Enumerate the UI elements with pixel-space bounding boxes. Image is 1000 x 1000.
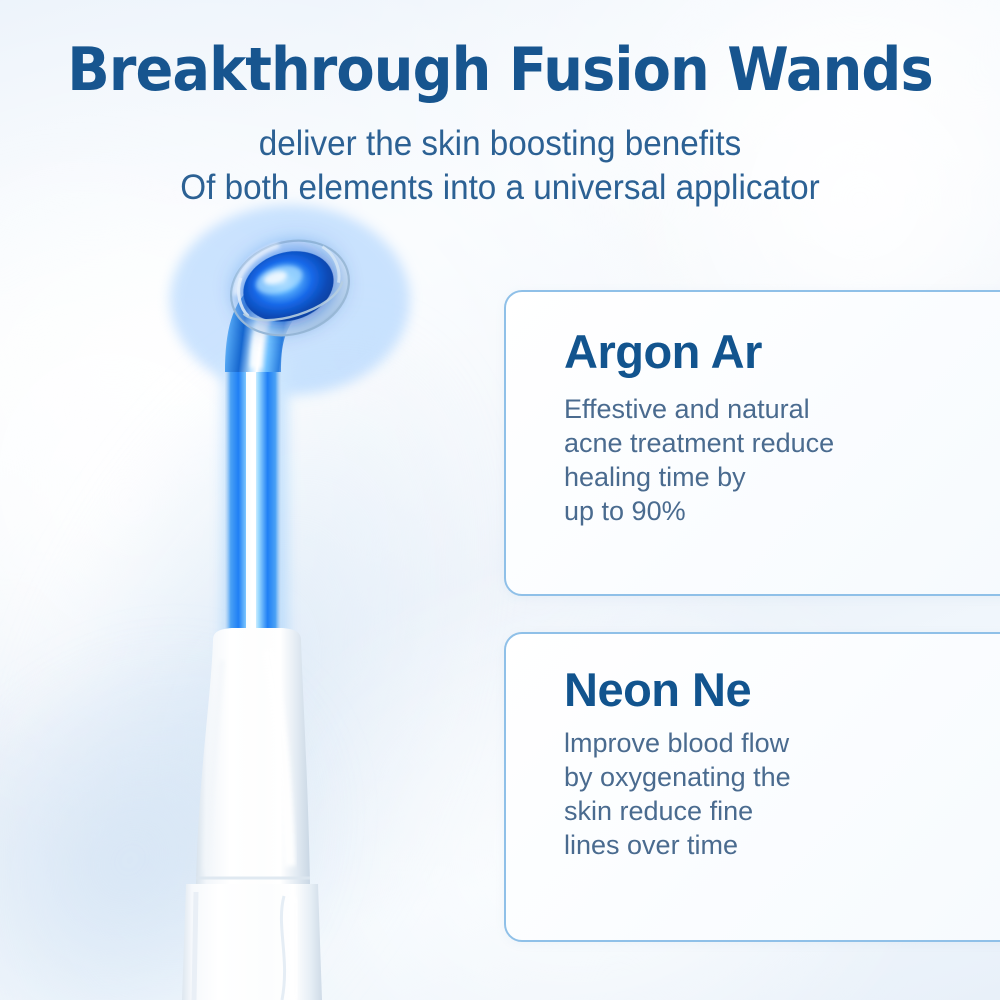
info-card-neon[interactable]: Neon Ne lmprove blood flow by oxygenatin… (504, 632, 1000, 942)
page-title: Breakthrough Fusion Wands (35, 0, 965, 100)
card-title-argon: Argon Ar (564, 326, 1000, 378)
white-collar (196, 628, 310, 884)
subtitle-line-2: Of both elements into a universal applic… (25, 166, 975, 210)
product-poster: Breakthrough Fusion Wands deliver the sk… (0, 0, 1000, 1000)
poster-header: Breakthrough Fusion Wands deliver the sk… (0, 0, 1000, 210)
card-title-neon: Neon Ne (564, 664, 1000, 716)
card-body-neon: lmprove blood flow by oxygenating the sk… (564, 716, 1000, 862)
info-card-argon[interactable]: Argon Ar Effestive and natural acne trea… (504, 290, 1000, 596)
subtitle-line-1: deliver the skin boosting benefits (25, 100, 975, 166)
handle-body (182, 884, 322, 1000)
glass-tube (225, 355, 281, 645)
card-body-argon: Effestive and natural acne treatment red… (564, 378, 1000, 528)
